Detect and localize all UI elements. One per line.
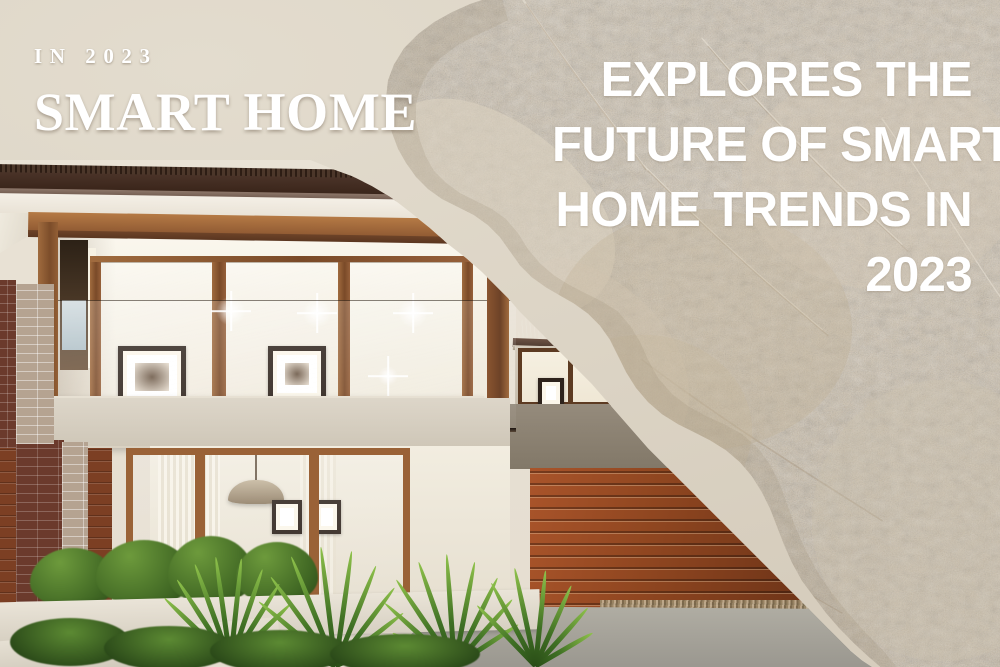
- headline-line-2: FUTURE OF SMART: [552, 113, 972, 178]
- brick-column-upper: [0, 280, 16, 448]
- art-mat: [546, 386, 556, 400]
- headline-line-4: 2023: [552, 243, 972, 308]
- headline-line-1: EXPLORES THE: [552, 48, 972, 113]
- brick-column-upper-light: [16, 284, 54, 444]
- banner-stage: IN 2023 SMART HOME EXPLORES THE FUTURE O…: [0, 0, 1000, 667]
- door-head-rail: [90, 256, 474, 262]
- page-title: SMART HOME: [34, 81, 417, 143]
- eyebrow-label: IN 2023: [34, 44, 417, 69]
- left-text-block: IN 2023 SMART HOME: [34, 44, 417, 143]
- timber-cladding-left: [0, 446, 16, 616]
- groundcover: [210, 630, 350, 667]
- headline-line-3: HOME TRENDS IN: [552, 178, 972, 243]
- groundcover: [330, 634, 480, 667]
- right-text-block: EXPLORES THE FUTURE OF SMART HOME TRENDS…: [552, 48, 972, 308]
- yucca-plant: [478, 566, 588, 666]
- lower-soffit: [30, 398, 510, 446]
